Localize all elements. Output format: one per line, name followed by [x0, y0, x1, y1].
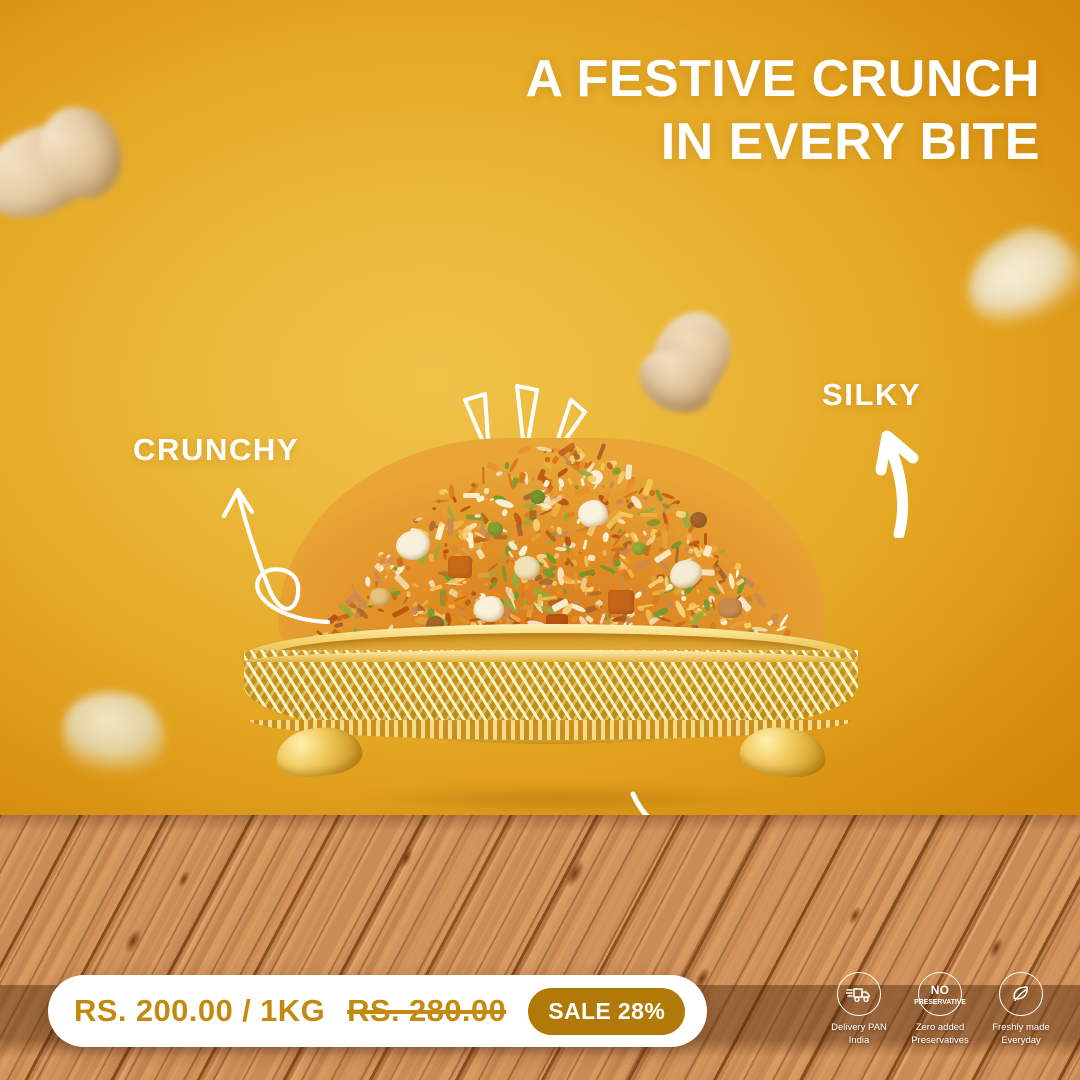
- stamp-top: NO: [931, 983, 950, 997]
- leaf-icon: [999, 972, 1043, 1016]
- silky-arrow-icon: [855, 418, 935, 538]
- headline-line-1: A FESTIVE CRUNCH: [525, 48, 1040, 111]
- callout-crunchy: CRUNCHY: [133, 432, 299, 468]
- poster-canvas: A FESTIVE CRUNCH IN EVERY BITE CRUNCHY S…: [0, 0, 1080, 1080]
- current-price: RS. 200.00 / 1KG: [74, 993, 325, 1029]
- stamp-text: NO PRESERVATIVE: [914, 982, 966, 1006]
- badge-delivery-text: Delivery PAN India: [824, 1022, 894, 1048]
- badge-preservative-text: Zero added Preservatives: [905, 1022, 975, 1048]
- stamp-bottom: PRESERVATIVE: [914, 999, 966, 1006]
- gold-plate: [236, 624, 866, 774]
- badge-delivery-line2: India: [849, 1035, 870, 1046]
- crunchy-arrow-icon: [210, 470, 340, 630]
- badge-no-preservative: NO PRESERVATIVE Zero added Preservatives: [905, 972, 975, 1048]
- badge-delivery: Delivery PAN India: [824, 972, 894, 1048]
- badge-freshly-made: Freshly made Everyday: [986, 972, 1056, 1048]
- badge-preservative-line1: Zero added: [916, 1022, 965, 1033]
- price-pill[interactable]: RS. 200.00 / 1KG RS. 280.00 SALE 28%: [48, 975, 707, 1047]
- trust-badges: Delivery PAN India NO PRESERVATIVE Zero …: [824, 972, 1056, 1048]
- badge-fresh-text: Freshly made Everyday: [986, 1022, 1056, 1048]
- badge-fresh-line1: Freshly made: [992, 1022, 1050, 1033]
- sale-badge: SALE 28%: [528, 988, 685, 1035]
- delivery-truck-icon: [837, 972, 881, 1016]
- callout-silky: SILKY: [822, 377, 921, 413]
- headline: A FESTIVE CRUNCH IN EVERY BITE: [525, 48, 1040, 175]
- headline-line-2: IN EVERY BITE: [525, 111, 1040, 174]
- no-preservative-stamp-icon: NO PRESERVATIVE: [918, 972, 962, 1016]
- table-top-shadow: [0, 815, 1080, 831]
- badge-preservative-line2: Preservatives: [911, 1035, 969, 1046]
- badge-delivery-line1: Delivery PAN: [831, 1022, 887, 1033]
- badge-fresh-line2: Everyday: [1001, 1035, 1041, 1046]
- original-price: RS. 280.00: [347, 993, 506, 1029]
